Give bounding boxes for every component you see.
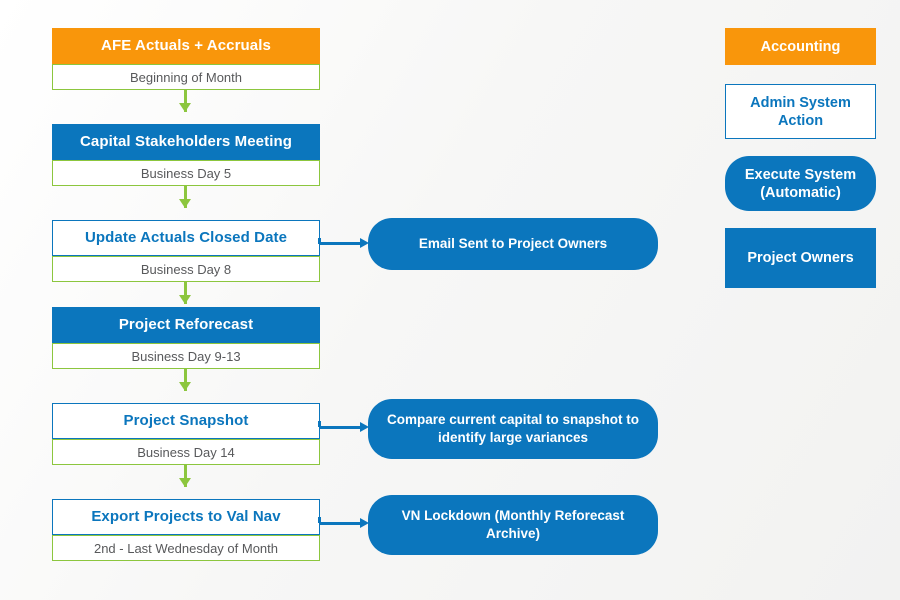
legend-item-admin-system-action[interactable]: Admin System Action xyxy=(725,84,876,139)
flow-node-subtitle: Business Day 14 xyxy=(52,439,320,465)
branch-connector-3 xyxy=(320,522,362,525)
flow-node-subtitle: 2nd - Last Wednesday of Month xyxy=(52,535,320,561)
flow-node-project-reforecast[interactable]: Project Reforecast Business Day 9-13 xyxy=(52,307,320,369)
branch-connector-2 xyxy=(320,426,362,429)
flow-node-export-projects-to-val-nav[interactable]: Export Projects to Val Nav 2nd - Last We… xyxy=(52,499,320,561)
flow-node-subtitle: Beginning of Month xyxy=(52,64,320,90)
connector-arrowhead-2 xyxy=(179,199,191,208)
connector-arrowhead-5 xyxy=(179,478,191,487)
flow-node-title: Update Actuals Closed Date xyxy=(52,220,320,256)
flow-node-subtitle: Business Day 9-13 xyxy=(52,343,320,369)
flow-node-title: Capital Stakeholders Meeting xyxy=(52,124,320,160)
flow-node-project-snapshot[interactable]: Project Snapshot Business Day 14 xyxy=(52,403,320,465)
connector-arrowhead-1 xyxy=(179,103,191,112)
callout-email-sent-to-project-owners[interactable]: Email Sent to Project Owners xyxy=(368,218,658,270)
flowchart-canvas: AFE Actuals + Accruals Beginning of Mont… xyxy=(0,0,900,600)
callout-compare-capital-to-snapshot[interactable]: Compare current capital to snapshot to i… xyxy=(368,399,658,459)
connector-arrowhead-4 xyxy=(179,382,191,391)
callout-vn-lockdown[interactable]: VN Lockdown (Monthly Reforecast Archive) xyxy=(368,495,658,555)
flow-node-subtitle: Business Day 5 xyxy=(52,160,320,186)
flow-node-subtitle: Business Day 8 xyxy=(52,256,320,282)
legend-item-execute-system-automatic[interactable]: Execute System (Automatic) xyxy=(725,156,876,211)
branch-connector-1 xyxy=(320,242,362,245)
legend-item-project-owners[interactable]: Project Owners xyxy=(725,228,876,288)
flow-node-capital-stakeholders-meeting[interactable]: Capital Stakeholders Meeting Business Da… xyxy=(52,124,320,186)
flow-node-afe-actuals-accruals[interactable]: AFE Actuals + Accruals Beginning of Mont… xyxy=(52,28,320,90)
flow-node-title: AFE Actuals + Accruals xyxy=(52,28,320,64)
flow-node-title: Project Snapshot xyxy=(52,403,320,439)
flow-node-title: Project Reforecast xyxy=(52,307,320,343)
connector-arrowhead-3 xyxy=(179,295,191,304)
legend-item-accounting[interactable]: Accounting xyxy=(725,28,876,65)
flow-node-update-actuals-closed-date[interactable]: Update Actuals Closed Date Business Day … xyxy=(52,220,320,282)
flow-node-title: Export Projects to Val Nav xyxy=(52,499,320,535)
